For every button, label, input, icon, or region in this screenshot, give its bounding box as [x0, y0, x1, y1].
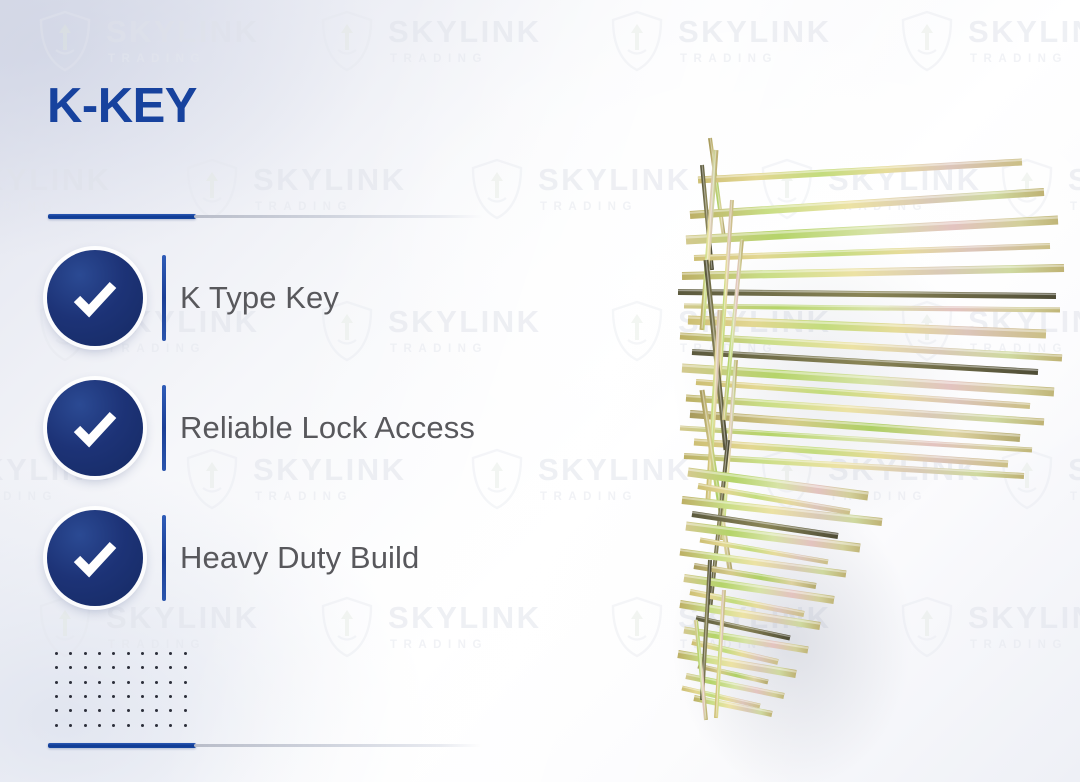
- dot: [184, 652, 187, 655]
- key-rod: [698, 162, 1022, 180]
- shield-logo-icon: [610, 10, 664, 72]
- dot: [184, 666, 187, 669]
- shield-logo-icon: [38, 10, 92, 72]
- dot: [84, 652, 87, 655]
- dot: [169, 666, 172, 669]
- dot: [55, 666, 58, 669]
- dot: [98, 652, 101, 655]
- slide-canvas: SKYLINKTRADING SKYLINKTRADING SKYLINKTRA…: [0, 0, 1080, 782]
- dot: [141, 695, 144, 698]
- watermark: SKYLINKTRADING: [900, 10, 1080, 72]
- dot: [141, 652, 144, 655]
- dot: [169, 695, 172, 698]
- dot: [127, 666, 130, 669]
- watermark-brand: SKYLINK: [388, 16, 542, 47]
- dot: [84, 666, 87, 669]
- divider-bottom: [48, 742, 488, 749]
- dot: [141, 709, 144, 712]
- dot: [69, 724, 72, 727]
- divider-bottom-blue-segment: [48, 743, 196, 748]
- dot: [84, 695, 87, 698]
- divider-bottom-grey-segment: [194, 744, 482, 747]
- divider-top-blue-segment: [48, 214, 196, 219]
- dot: [55, 724, 58, 727]
- dot: [184, 695, 187, 698]
- dot: [169, 709, 172, 712]
- shield-logo-icon: [610, 300, 664, 362]
- watermark-tagline: TRADING: [970, 54, 1080, 66]
- dot: [69, 695, 72, 698]
- dot: [155, 652, 158, 655]
- dot: [155, 681, 158, 684]
- key-rod-highlight: [690, 190, 1044, 213]
- watermark: SKYLINKTRADING: [610, 10, 832, 72]
- feature-label: Heavy Duty Build: [180, 531, 419, 584]
- dot: [127, 681, 130, 684]
- feature-item: Reliable Lock Access: [47, 380, 517, 476]
- shield-logo-icon: [185, 158, 239, 220]
- dot: [98, 709, 101, 712]
- watermark-brand: SKYLINK: [538, 164, 692, 195]
- dot: [112, 652, 115, 655]
- watermark-brand: SKYLINK: [388, 602, 542, 633]
- page-title: K-KEY: [47, 78, 197, 134]
- feature-label: K Type Key: [180, 271, 339, 324]
- dot: [55, 681, 58, 684]
- watermark-tagline: TRADING: [540, 492, 692, 504]
- feature-accent-bar: [162, 515, 166, 601]
- check-icon: [68, 271, 122, 325]
- dot: [98, 724, 101, 727]
- check-icon: [68, 401, 122, 455]
- dot: [98, 695, 101, 698]
- dot: [141, 681, 144, 684]
- dot: [169, 681, 172, 684]
- dot: [84, 709, 87, 712]
- dot: [69, 652, 72, 655]
- check-circle-icon: [47, 380, 143, 476]
- dot: [169, 652, 172, 655]
- watermark-tagline: TRADING: [390, 54, 542, 66]
- shield-logo-icon: [610, 596, 664, 658]
- product-image: [672, 120, 1080, 720]
- dot: [112, 681, 115, 684]
- watermark: SKYLINKTRADING: [0, 158, 112, 220]
- dot: [127, 709, 130, 712]
- shield-logo-icon: [900, 10, 954, 72]
- dot: [112, 709, 115, 712]
- watermark-tagline: TRADING: [108, 54, 260, 66]
- dot: [184, 709, 187, 712]
- dot: [155, 666, 158, 669]
- dot: [69, 681, 72, 684]
- divider-top: [48, 213, 488, 220]
- watermark-brand: SKYLINK: [253, 164, 407, 195]
- dot: [184, 724, 187, 727]
- watermark-brand: SKYLINK: [678, 16, 832, 47]
- dot: [155, 724, 158, 727]
- feature-label: Reliable Lock Access: [180, 401, 475, 454]
- watermark: SKYLINKTRADING: [470, 158, 692, 220]
- watermark: SKYLINKTRADING: [38, 10, 260, 72]
- watermark-tagline: TRADING: [540, 202, 692, 214]
- dot: [127, 652, 130, 655]
- key-rod: [690, 192, 1044, 215]
- feature-accent-bar: [162, 385, 166, 471]
- dot: [184, 681, 187, 684]
- watermark-brand: SKYLINK: [968, 16, 1080, 47]
- dot: [141, 724, 144, 727]
- dot: [55, 652, 58, 655]
- dot: [84, 681, 87, 684]
- dot: [69, 709, 72, 712]
- divider-top-grey-segment: [194, 215, 482, 218]
- watermark-brand: SKYLINK: [538, 454, 692, 485]
- dot: [155, 709, 158, 712]
- check-circle-icon: [47, 510, 143, 606]
- dot: [55, 695, 58, 698]
- watermark-tagline: TRADING: [390, 640, 542, 652]
- check-circle-icon: [47, 250, 143, 346]
- dot: [98, 666, 101, 669]
- dot: [112, 724, 115, 727]
- dot: [155, 695, 158, 698]
- dot: [141, 666, 144, 669]
- watermark-brand: SKYLINK: [106, 16, 260, 47]
- dot: [127, 695, 130, 698]
- dot: [112, 666, 115, 669]
- dot: [69, 666, 72, 669]
- feature-item: Heavy Duty Build: [47, 510, 517, 606]
- watermark-tagline: TRADING: [108, 640, 260, 652]
- dot: [84, 724, 87, 727]
- watermark-tagline: TRADING: [680, 54, 832, 66]
- dot: [98, 681, 101, 684]
- key-rod-highlight: [698, 160, 1022, 178]
- dot: [55, 709, 58, 712]
- shield-logo-icon: [320, 10, 374, 72]
- dot-grid-decoration: [55, 652, 187, 728]
- watermark: SKYLINKTRADING: [185, 158, 407, 220]
- feature-accent-bar: [162, 255, 166, 341]
- feature-list: K Type Key Reliable Lock Access Heavy Du…: [47, 250, 517, 606]
- watermark-brand: SKYLINK: [106, 602, 260, 633]
- feature-item: K Type Key: [47, 250, 517, 346]
- shield-logo-icon: [470, 158, 524, 220]
- dot: [169, 724, 172, 727]
- watermark-brand: SKYLINK: [0, 164, 112, 195]
- watermark: SKYLINKTRADING: [320, 10, 542, 72]
- dot: [127, 724, 130, 727]
- dot: [112, 695, 115, 698]
- check-icon: [68, 531, 122, 585]
